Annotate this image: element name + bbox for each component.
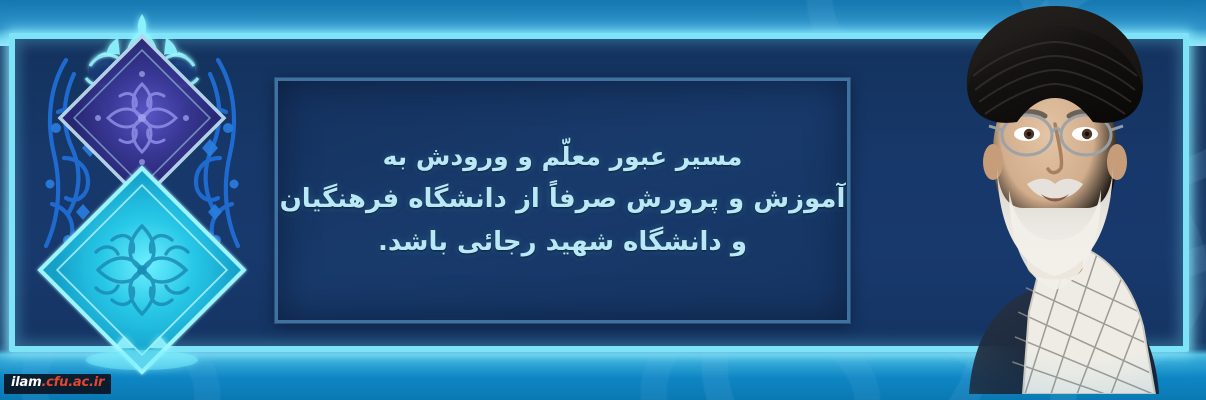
watermark-domain: .cfu.ac.ir xyxy=(41,375,104,390)
quote-line-1: مسیر عبور معلّم و ورودش به xyxy=(383,141,743,174)
quote-line-3: و دانشگاه شهید رجائی باشد. xyxy=(378,226,747,260)
watermark-site-name: ilam xyxy=(11,375,41,390)
site-watermark[interactable]: ilam.cfu.ac.ir xyxy=(4,374,111,394)
quote-line-2: آموزش و پرورش صرفاً از دانشگاه فرهنگیان xyxy=(280,183,846,217)
banner-root: مسیر عبور معلّم و ورودش به آموزش و پرورش… xyxy=(0,0,1206,400)
quote-panel: مسیر عبور معلّم و ورودش به آموزش و پرورش… xyxy=(275,78,850,323)
